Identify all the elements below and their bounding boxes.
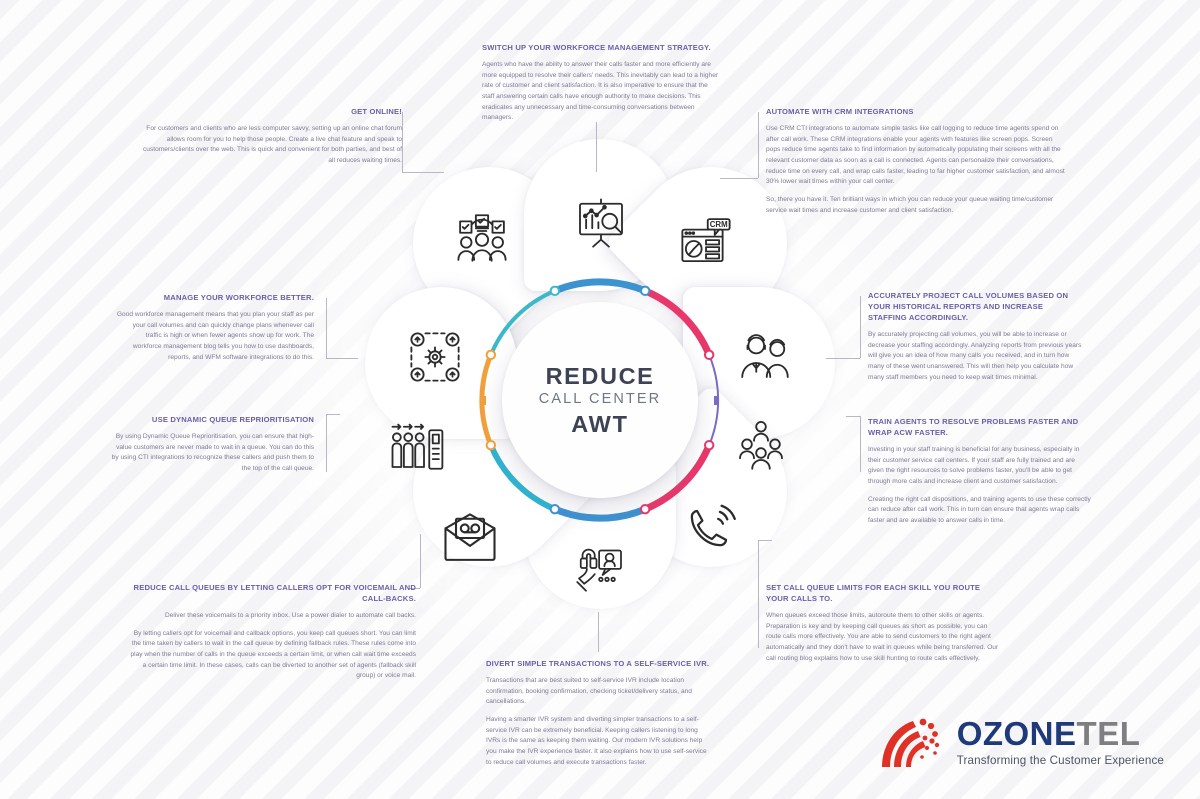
section-get-online: GET ONLINE! For customers and clients wh…	[140, 106, 402, 167]
section-heading: MANAGE YOUR WORKFORCE BETTER.	[116, 292, 314, 303]
section-paragraph: Investing in your staff training is bene…	[868, 445, 1092, 488]
section-voicemail-call-backs: REDUCE CALL QUEUES BY LETTING CALLERS OP…	[128, 582, 416, 682]
logo-tagline: Transforming the Customer Experience	[957, 754, 1164, 767]
agents-pair-icon	[737, 328, 793, 384]
ivr-agent-icon	[572, 540, 628, 596]
connector-line	[758, 540, 759, 648]
connector-line	[758, 112, 759, 178]
section-automate-crm-integrations: AUTOMATE WITH CRM INTEGRATIONS Use CRM C…	[766, 106, 1066, 216]
section-paragraph: Deliver these voicemails to a priority i…	[128, 611, 416, 622]
connector-line	[720, 178, 758, 179]
connector-line	[598, 612, 599, 652]
ozonetel-wordmark: OZONETEL	[957, 717, 1164, 750]
connector-line	[846, 416, 860, 417]
team-hierarchy-icon	[733, 418, 789, 474]
section-paragraph: By letting callers opt for voicemail and…	[128, 629, 416, 682]
section-train-agents-resolve-problems: TRAIN AGENTS TO RESOLVE PROBLEMS FASTER …	[868, 416, 1092, 527]
section-paragraph: By accurately projecting call volumes, y…	[868, 330, 1084, 383]
section-heading: USE DYNAMIC QUEUE REPRIORITISATION	[110, 414, 314, 425]
queue-people-icon	[389, 418, 445, 474]
wheel-diagram: CRM	[327, 165, 873, 635]
connector-line	[326, 298, 327, 358]
section-project-call-volumes: ACCURATELY PROJECT CALL VOLUMES BASED ON…	[868, 290, 1084, 383]
section-paragraph: By using Dynamic Queue Reprioritisation,…	[110, 432, 314, 475]
center-line-1: REDUCE	[546, 363, 655, 389]
center-line-3: AWT	[571, 411, 629, 437]
section-heading: GET ONLINE!	[140, 106, 402, 117]
svg-text:CRM: CRM	[710, 220, 728, 229]
section-self-service-ivr: DIVERT SIMPLE TRANSACTIONS TO A SELF-SER…	[486, 658, 712, 768]
section-heading: REDUCE CALL QUEUES BY LETTING CALLERS OP…	[128, 582, 416, 604]
center-line-2: CALL CENTER	[539, 389, 661, 411]
section-paragraph: For customers and clients who are less c…	[140, 124, 402, 167]
section-heading: ACCURATELY PROJECT CALL VOLUMES BASED ON…	[868, 290, 1084, 323]
logo-name-part1: OZONE	[957, 715, 1077, 752]
connector-line	[402, 112, 403, 172]
connector-line	[860, 416, 861, 472]
section-paragraph: So, there you have it. Ten brilliant way…	[766, 195, 1066, 216]
section-dynamic-queue-reprioritisation: USE DYNAMIC QUEUE REPRIORITISATION By us…	[110, 414, 314, 475]
connector-line	[758, 540, 772, 541]
center-hub: REDUCE CALL CENTER AWT	[466, 266, 734, 534]
section-paragraph: Good workforce management means that you…	[116, 310, 314, 363]
section-heading: DIVERT SIMPLE TRANSACTIONS TO A SELF-SER…	[486, 658, 712, 669]
connector-line	[826, 358, 860, 359]
center-label: REDUCE CALL CENTER AWT	[502, 302, 698, 498]
team-board-icon	[454, 210, 510, 266]
section-paragraph: Agents who have the ability to answer th…	[482, 60, 720, 124]
section-paragraph: Transactions that are best suited to sel…	[486, 676, 712, 708]
ozonetel-logo-mark	[878, 713, 948, 771]
section-call-queue-limits: SET CALL QUEUE LIMITS FOR EACH SKILL YOU…	[766, 582, 1004, 664]
section-paragraph: When queues exceed those limits, autorou…	[766, 611, 1004, 664]
infographic-canvas: SWITCH UP YOUR WORKFORCE MANAGEMENT STRA…	[0, 0, 1200, 799]
section-paragraph: Creating the right call dispositions, an…	[868, 495, 1092, 527]
section-manage-workforce-better: MANAGE YOUR WORKFORCE BETTER. Good workf…	[116, 292, 314, 363]
connector-line	[596, 122, 597, 172]
settings-gear-icon	[407, 329, 463, 385]
ozonetel-logo-text: OZONETEL Transforming the Customer Exper…	[957, 717, 1164, 767]
connector-line	[326, 358, 358, 359]
connector-line	[402, 172, 444, 173]
crm-dashboard-icon: CRM	[678, 213, 734, 269]
presentation-chart-icon	[573, 195, 629, 251]
section-workforce-management-strategy: SWITCH UP YOUR WORKFORCE MANAGEMENT STRA…	[482, 42, 720, 124]
section-paragraph: Having a smarter IVR system and divertin…	[486, 715, 712, 768]
ozonetel-logo: OZONETEL Transforming the Customer Exper…	[878, 713, 1164, 771]
section-paragraph: Use CRM CTI integrations to automate sim…	[766, 124, 1066, 188]
section-heading: TRAIN AGENTS TO RESOLVE PROBLEMS FASTER …	[868, 416, 1092, 438]
logo-name-part2: TEL	[1077, 715, 1141, 752]
connector-line	[326, 414, 327, 472]
section-heading: SET CALL QUEUE LIMITS FOR EACH SKILL YOU…	[766, 582, 1004, 604]
connector-line	[860, 296, 861, 358]
section-heading: AUTOMATE WITH CRM INTEGRATIONS	[766, 106, 1066, 117]
connector-line	[420, 534, 421, 588]
connector-line	[326, 414, 340, 415]
section-heading: SWITCH UP YOUR WORKFORCE MANAGEMENT STRA…	[482, 42, 720, 53]
